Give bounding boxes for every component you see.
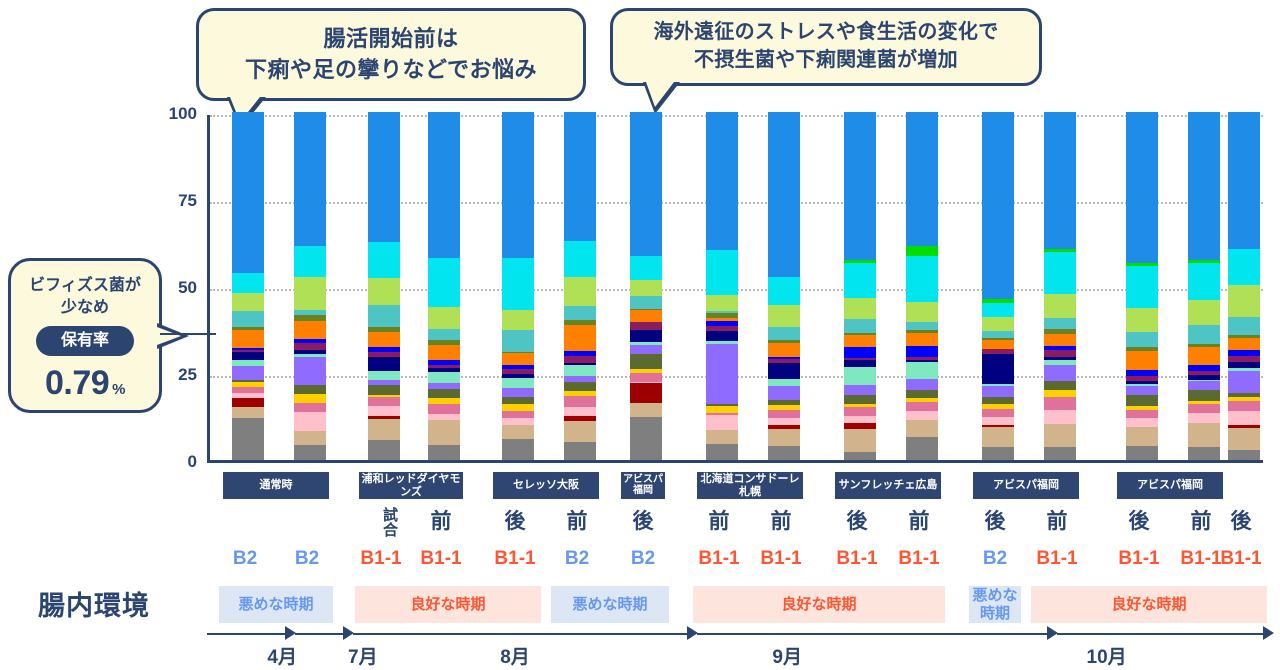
bar-segment-teal [844,319,876,333]
bar-segment-cyan [1188,263,1220,300]
bar-segment-cyan [294,246,326,277]
enterotype-label: B1-1 [1030,548,1084,570]
bar-segment-yellowgreen [630,280,662,295]
bar-segment-cyan [1228,249,1260,286]
bar-segment-yellowgreen [1126,308,1158,332]
bar-segment-orange [906,333,938,346]
bar-segment-purple [502,388,534,397]
bar-segment-rose [844,407,876,416]
bar-segment-tan [982,427,1014,446]
bar-segment-aquamarine [502,378,534,388]
gut-state-band: 悪めな時期 [551,586,669,623]
timeline-month-label: 9月 [757,642,817,669]
callout-pre-gut-care: 腸活開始前は 下痢や足の攣りなどでお悩み [196,8,586,101]
bar-segment-teal [368,305,400,327]
bar-segment-rose [294,403,326,412]
bar-segment-dodger [1228,112,1260,248]
bar-segment-pink [1044,410,1076,424]
stacked-bar [768,112,800,460]
bar-segment-yellowgreen [844,298,876,319]
phase-label: 後 [841,505,873,535]
team-label: 北海道コンサドーレ札幌 [697,472,803,499]
bar-segment-olive [906,390,938,398]
phase-label: 後 [499,505,531,535]
bifidus-rate-unit: % [112,381,125,398]
bar-segment-purple [1126,386,1158,395]
bar-segment-gray [428,445,460,460]
bar-segment-rose [564,396,596,407]
y-axis-tick: 0 [159,452,197,472]
enterotype-label: B1-1 [488,548,542,570]
timeline-line [697,633,1047,635]
team-label: 通常時 [223,472,329,499]
bar-segment-pink [1126,418,1158,427]
phase-label-row: 試合前後前後前前後前後前後前後 [207,505,1263,541]
bar-segment-orange [1126,351,1158,370]
bar-segment-cyan [906,256,938,303]
bar-segment-rose [428,404,460,414]
callout-away-line1: 海外遠征のストレスや食生活の変化で [653,19,998,47]
bar-segment-gold [502,404,534,411]
stacked-bar [294,112,326,460]
bar-segment-tan [768,429,800,446]
enterotype-label: B1-1 [754,548,808,570]
phase-label: 後 [979,505,1011,535]
gut-environment-label: 腸内環境 [38,584,150,623]
y-axis-tick: 25 [159,365,197,385]
stacked-bar [232,112,264,460]
bar-segment-rose [1228,401,1260,411]
bar-segment-gray [368,440,400,460]
bar-segment-purple [1188,381,1220,389]
stacked-bar [706,112,738,460]
bar-segment-teal [1228,317,1260,334]
bar-segment-gray [564,442,596,460]
bar-segment-teal [982,331,1014,338]
bar-segment-yellowgreen [768,305,800,327]
stacked-bar [982,112,1014,460]
bar-segment-magenta [564,356,596,363]
stacked-bar [1126,112,1158,460]
bar-segment-olive [1188,390,1220,401]
bar-segment-rose [630,373,662,382]
stacked-bar [906,112,938,460]
bar-segment-yellowgreen [502,310,534,329]
bar-segment-dodger [294,112,326,246]
bar-segment-purple [844,385,876,395]
stacked-bar [1044,112,1076,460]
bar-segment-gray [1188,447,1220,460]
bifidus-title-line1: ビフィズス菌が [11,275,159,297]
timeline-month-label: 8月 [485,642,545,669]
gut-state-band: 悪めな時期 [219,586,333,623]
bar-segment-pink [906,411,938,420]
bar-segment-gray [502,439,534,460]
bar-segment-olive [844,395,876,403]
team-label: アビスパ福岡 [973,472,1079,499]
gut-state-band: 良好な時期 [693,586,945,623]
bar-segment-rose [1126,410,1158,418]
bar-segment-yellowgreen [294,277,326,310]
bar-segment-orange [1228,338,1260,350]
bar-segment-magenta [630,322,662,330]
infographic-root: 腸活開始前は 下痢や足の攣りなどでお悩み 海外遠征のストレスや食生活の変化で 不… [0,0,1280,670]
bar-segment-dodger [982,112,1014,299]
timeline: 4月7月8月9月10月 [207,624,1263,670]
bar-segment-yellowgreen [706,295,738,311]
bar-segment-blue [844,347,876,358]
bar-segment-gray [1044,447,1076,460]
bar-segment-olive [502,397,534,404]
bifidus-rate-pill: 保有率 [36,326,134,356]
bar-segment-tan [706,430,738,444]
bar-segment-green [906,246,938,256]
bar-segment-dodger [1126,112,1158,263]
bar-segment-yellowgreen [906,302,938,321]
bar-segment-rose [502,411,534,418]
bifidus-title-line2: 少なめ [11,297,159,319]
bar-segment-tan [232,407,264,418]
timeline-month-label: 4月 [252,642,312,669]
bar-segment-cyan [1126,266,1158,308]
enterotype-label: B2 [280,548,334,570]
bar-segment-blue [906,346,938,358]
bar-segment-purple [1044,365,1076,381]
timeline-arrow-icon [1263,626,1274,640]
bar-segment-gold [1044,390,1076,398]
bar-segment-teal [428,329,460,341]
enterotype-label: B1-1 [1214,548,1268,570]
bar-segment-tan [1228,428,1260,450]
callout-tail-inner [157,327,181,345]
bar-segment-teal [906,322,938,330]
phase-label: 後 [1225,505,1257,535]
bar-segment-rose [1188,404,1220,413]
enterotype-label: B2 [550,548,604,570]
timeline-line [353,633,687,635]
bar-segment-gray [630,417,662,460]
bar-segment-gray [1228,450,1260,460]
stacked-bar-chart [207,115,1263,463]
bar-segment-aquamarine [564,365,596,376]
bar-segment-pink [844,416,876,423]
bar-segment-olive [982,397,1014,405]
bar-segment-cyan [768,277,800,305]
bar-segment-darkred [232,398,264,407]
gut-state-band: 良好な時期 [355,586,541,623]
bar-segment-gray [844,452,876,460]
y-axis-tick: 75 [159,191,197,211]
stacked-bar [1228,112,1260,460]
bar-segment-orange [232,330,264,348]
bar-segment-teal [1126,332,1158,347]
bar-segment-dodger [630,112,662,256]
bar-segment-teal [630,296,662,309]
bar-segment-pink [294,412,326,431]
gut-state-band: 良好な時期 [1031,586,1267,623]
enterotype-label: B1-1 [1112,548,1166,570]
timeline-line [1057,633,1263,635]
bar-segment-aquamarine [844,367,876,385]
bar-segment-teal [1188,325,1220,343]
stacked-bar [564,112,596,460]
bar-segment-pink [768,418,800,425]
bar-segment-tan [844,429,876,453]
bar-segment-cyan [428,258,460,307]
stacked-bar [502,112,534,460]
bar-segment-yellowgreen [232,293,264,311]
stacked-bar [1188,112,1220,460]
bar-segment-dodger [1044,112,1076,249]
bar-segment-rose [982,409,1014,417]
phase-label: 前 [1185,505,1217,535]
bar-segment-aquamarine [906,362,938,379]
bar-segment-teal [768,327,800,341]
bar-segment-purple [768,386,800,399]
bar-segment-rose [906,402,938,410]
bar-segment-orange [1044,334,1076,346]
phase-label: 前 [903,505,935,535]
callout-bifidus-rate: ビフィズス菌が 少なめ 保有率 0.79% [8,258,162,413]
bar-segment-navy [982,354,1014,384]
bar-segment-tan [564,421,596,442]
bar-segment-yellowgreen [564,277,596,306]
bar-segment-cyan [564,241,596,277]
bar-segment-gray [982,447,1014,460]
gut-state-band: 悪めな時期 [969,586,1021,623]
bar-segment-magenta [294,343,326,350]
callout-pre-line2: 下痢や足の攣りなどでお悩み [245,55,537,85]
bar-segment-cyan [982,303,1014,318]
bar-segment-teal [232,311,264,327]
bar-segment-olive [630,354,662,369]
bar-segment-gray [906,437,938,460]
phase-label: 前 [1041,505,1073,535]
enterotype-label: B2 [968,548,1022,570]
bar-segment-gray [294,445,326,460]
team-label: 浦和レッドダイヤモンズ [359,472,463,499]
bar-segment-pink [706,415,738,430]
bar-segment-aquamarine [428,372,460,383]
bar-segment-orange [294,321,326,340]
enterotype-label: B1-1 [692,548,746,570]
callout-away-trip: 海外遠征のストレスや食生活の変化で 不摂生菌や下痢関連菌が増加 [610,8,1042,86]
bar-segment-navy [706,331,738,341]
phase-label: 後 [627,505,659,535]
bar-segment-purple [906,379,938,390]
bar-segment-purple [1228,371,1260,393]
enterotype-label: B1-1 [892,548,946,570]
enterotype-row: B2B2B1-1B1-1B1-1B2B2B1-1B1-1B1-1B1-1B2B1… [207,548,1263,576]
y-axis-tick: 100 [159,104,197,124]
bar-segment-cyan [1044,252,1076,294]
bar-segment-orange [1188,347,1220,365]
bar-segment-orange [564,325,596,351]
bar-segment-yellowgreen [1044,294,1076,318]
enterotype-label: B2 [616,548,670,570]
bar-segment-navy [232,352,264,360]
bar-segment-cyan [630,256,662,280]
bar-segment-tan [1188,423,1220,447]
bar-segment-pink [1188,413,1220,423]
bar-segment-gray [706,444,738,460]
bar-segment-pink [564,407,596,416]
bar-segment-navy [630,330,662,342]
bar-segment-yellowgreen [368,278,400,305]
bifidus-rate-value: 0.79 [45,364,109,402]
team-label: セレッソ大阪 [493,472,599,499]
stacked-bar [368,112,400,460]
timeline-line [295,633,343,635]
bar-segment-orange [630,310,662,322]
bar-segment-tan [630,403,662,417]
bar-segment-dodger [368,112,400,242]
bar-segment-dodger [768,112,800,277]
bar-segment-rose [368,397,400,406]
bar-segment-pink [982,417,1014,425]
bar-segment-gold [294,394,326,403]
bar-segment-olive [368,385,400,395]
enterotype-label: B1-1 [354,548,408,570]
bar-segment-dodger [564,112,596,241]
bar-segment-orange [844,335,876,348]
bar-segment-tan [368,419,400,440]
bar-segment-yellowgreen [428,307,460,329]
phase-label: 後 [1123,505,1155,535]
stacked-bar [428,112,460,460]
bar-segment-tan [428,420,460,445]
enterotype-label: B1-1 [414,548,468,570]
bar-segment-dodger [232,112,264,273]
stacked-bar [844,112,876,460]
enterotype-label: B1-1 [830,548,884,570]
bar-segment-aquamarine [768,379,800,387]
callout-pre-line1: 腸活開始前は [245,24,537,54]
bar-segment-purple [706,344,738,405]
phase-label: 前 [703,505,735,535]
bar-segment-teal [502,330,534,352]
bar-segment-olive [1126,395,1158,406]
bar-segment-tan [1044,424,1076,447]
bar-segment-teal [564,306,596,320]
bar-segment-purple [982,386,1014,396]
bar-segment-dodger [906,112,938,246]
bar-segment-olive [428,389,460,398]
bar-segment-purple [232,366,264,380]
bar-segment-darkred [630,383,662,402]
phase-label: 前 [561,505,593,535]
bar-segment-cyan [232,273,264,292]
bar-segment-yellowgreen [1228,285,1260,317]
bar-segment-navy [368,357,400,371]
bar-segment-dodger [428,112,460,258]
bar-segment-dodger [844,112,876,260]
bar-segment-purple [630,345,662,354]
bar-segment-orange [768,343,800,358]
bar-segment-tan [906,420,938,437]
bar-segment-olive [564,382,596,391]
stacked-bar [630,112,662,460]
enterotype-label: B2 [218,548,272,570]
bar-segment-pink [502,418,534,425]
callout-tail-inner [646,82,674,107]
team-label: サンフレッチェ広島 [835,472,941,499]
team-label: アビスパ福岡 [1117,472,1223,499]
bar-segment-cyan [844,263,876,298]
bar-segment-yellowgreen [982,317,1014,331]
timeline-month-label: 10月 [1077,642,1137,669]
bar-segment-cyan [502,258,534,310]
callout-away-line2: 不摂生菌や下痢関連菌が増加 [653,47,998,75]
bar-segment-purple [294,357,326,385]
bar-segment-dodger [1188,112,1220,260]
bar-segment-rose [1044,397,1076,410]
phase-label: 前 [425,505,457,535]
bar-segment-orange [982,340,1014,348]
bar-segment-gray [232,418,264,460]
bar-segment-tan [502,425,534,439]
timeline-line [207,633,285,635]
y-axis-tick: 50 [159,278,197,298]
bar-segment-navy [768,363,800,379]
bar-segment-gray [1126,446,1158,460]
bar-segment-cyan [706,250,738,295]
gut-environment-bands: 悪めな時期良好な時期悪めな時期良好な時期悪めな時期良好な時期 [207,586,1263,623]
team-label-row: 通常時浦和レッドダイヤモンズセレッソ大阪アビスパ福岡北海道コンサドーレ札幌サンフ… [207,472,1263,499]
bar-segment-dodger [706,112,738,249]
bar-segment-pink [1228,411,1260,425]
timeline-month-label: 7月 [333,642,393,669]
team-label: アビスパ福岡 [621,472,665,499]
bar-segment-rose [768,410,800,418]
bar-segment-orange [502,353,534,366]
bar-segment-orange [428,345,460,360]
bar-segment-aquamarine [368,371,400,380]
bar-segment-gray [768,446,800,460]
bar-segment-aquamarine [232,360,264,367]
bar-segment-tan [1126,427,1158,446]
bar-segment-tan [294,431,326,446]
bar-segment-yellowgreen [1188,300,1220,325]
bar-segment-teal [1044,318,1076,328]
bar-segment-cyan [368,242,400,277]
bar-segment-navy [844,360,876,367]
bar-segment-pink [368,406,400,416]
bar-segment-olive [1044,381,1076,390]
bar-segment-orange [368,332,400,347]
bar-segment-olive [294,385,326,394]
phase-label: 前 [765,505,797,535]
match-label: 試合 [365,502,397,542]
bar-segment-dodger [502,112,534,258]
